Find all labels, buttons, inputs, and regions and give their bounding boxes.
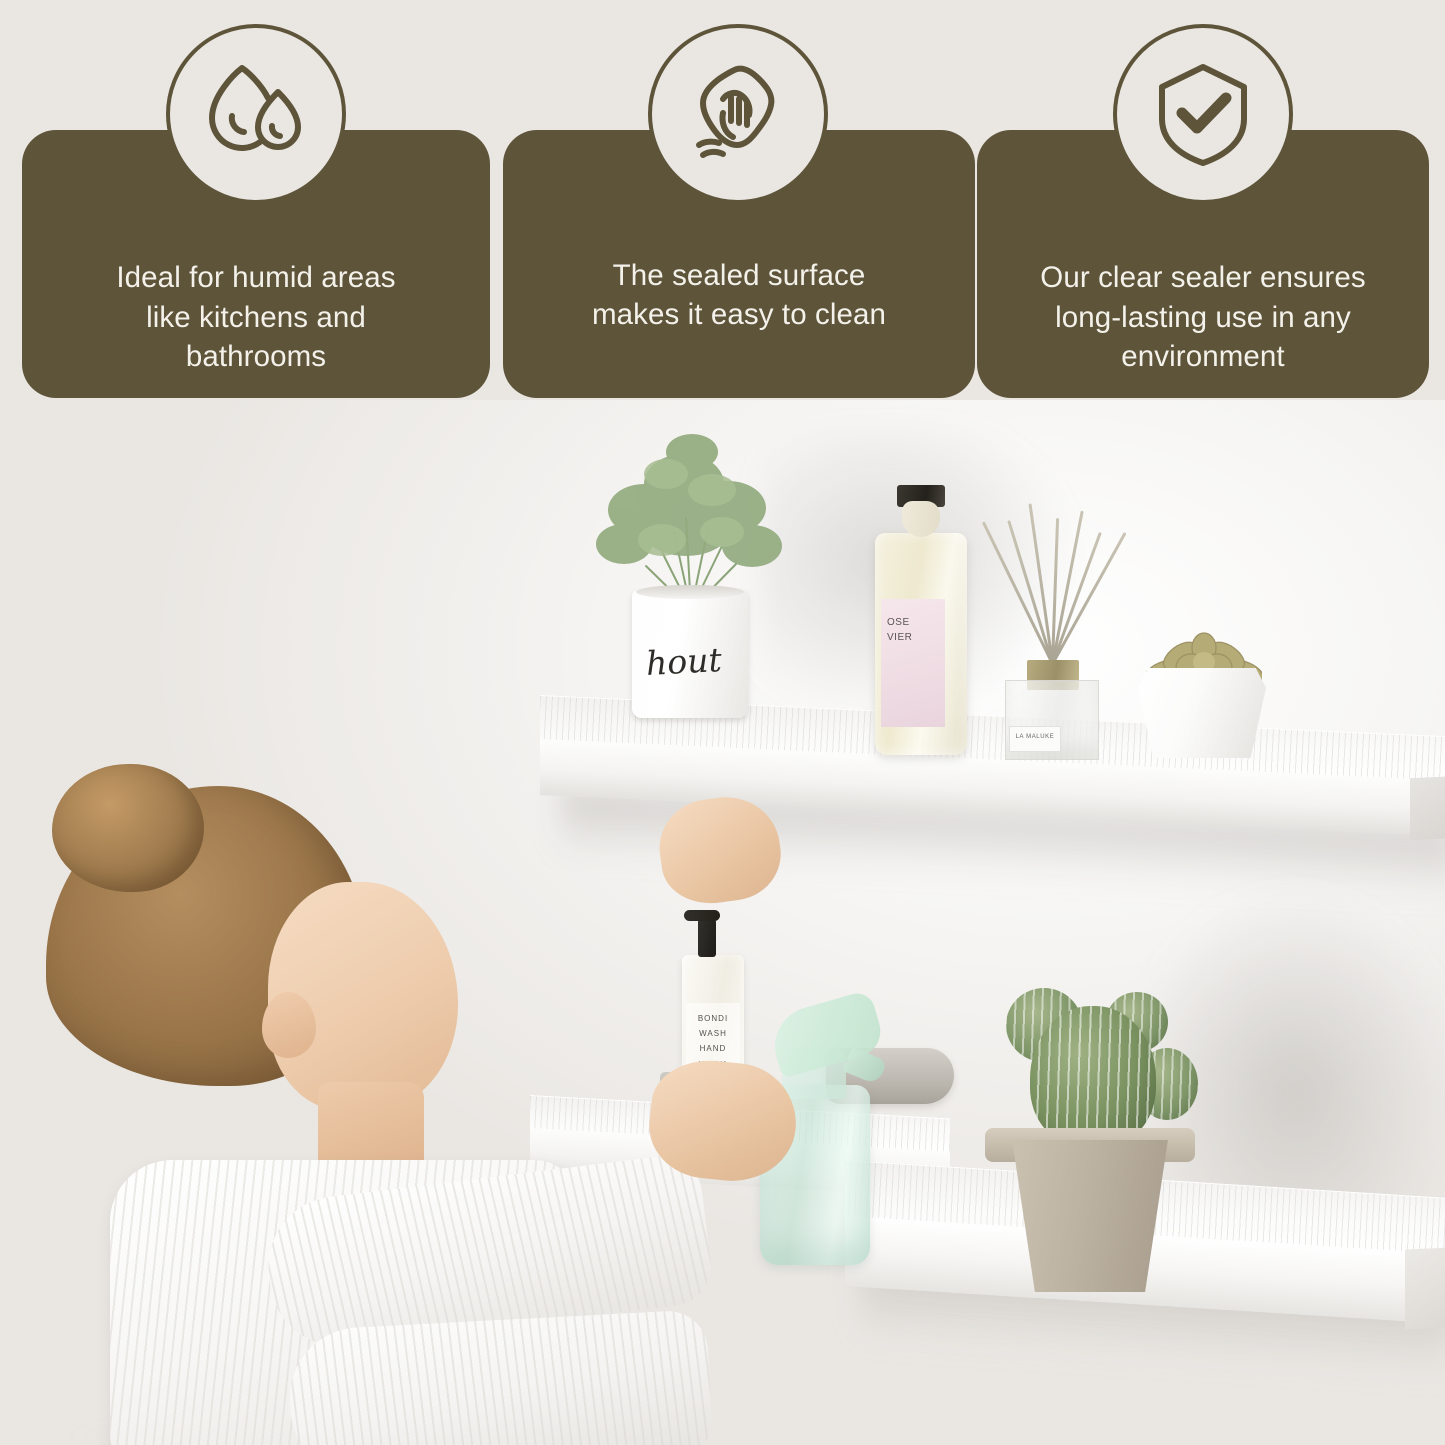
child-hair-bun (52, 764, 204, 892)
fern-plant-pot: hout (632, 590, 748, 718)
pot-script-label: hout (645, 640, 723, 683)
shield-check-icon (1113, 24, 1293, 204)
spray-bottle-nozzle (843, 1047, 888, 1085)
feature-card-text: The sealed surface makes it easy to clea… (592, 256, 886, 334)
amber-bottle: OSE VIER (875, 533, 967, 755)
reed-diffuser: LA MALUKE (995, 510, 1125, 760)
child-lower-arm (286, 1309, 713, 1445)
product-infographic: Ideal for humid areas like kitchens and … (0, 0, 1445, 1445)
bottle-label: OSE VIER (881, 599, 945, 727)
diffuser-label: LA MALUKE (1009, 726, 1061, 752)
shelf-end-cap (1405, 1248, 1445, 1330)
feature-card-text: Our clear sealer ensures long-lasting us… (1040, 258, 1365, 376)
diffuser-reed (1007, 520, 1054, 664)
water-droplets-icon (166, 24, 346, 204)
shelf-end-cap (1410, 777, 1445, 841)
succulent-geometric-pot (1138, 668, 1266, 758)
product-photo-scene: hout OSE VIER LA MALUKE (0, 400, 1445, 1445)
bottle-label-line-1: OSE (887, 617, 910, 628)
child-holding-spray-bottle (0, 760, 760, 1445)
feature-card-text: Ideal for humid areas like kitchens and … (116, 258, 395, 376)
cactus-main-body (1030, 1006, 1156, 1146)
diffuser-reed (1051, 532, 1126, 665)
diffuser-reed (1051, 532, 1102, 665)
bottle-label-line-2: VIER (887, 632, 912, 643)
hand-wiping-cloth-icon (648, 24, 828, 204)
feature-card-strip: Ideal for humid areas like kitchens and … (0, 0, 1445, 400)
